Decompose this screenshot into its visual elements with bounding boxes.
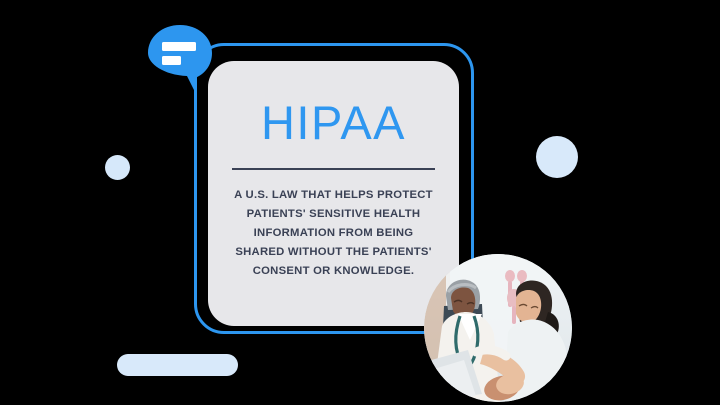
decorative-dot-left [105, 155, 130, 180]
decorative-dot-right [536, 136, 578, 178]
hipaa-info-card: HIPAA A U.S. LAW THAT HELPS PROTECT PATI… [208, 61, 459, 326]
decorative-pill-bottom-left [117, 354, 238, 376]
doctor-patient-photo [424, 254, 572, 402]
page-title: HIPAA [228, 99, 439, 146]
graphic-canvas: HIPAA A U.S. LAW THAT HELPS PROTECT PATI… [0, 0, 720, 405]
title-divider [232, 168, 435, 170]
hipaa-description-text: A U.S. LAW THAT HELPS PROTECT PATIENTS' … [228, 186, 439, 281]
chat-bubble-icon [144, 20, 218, 100]
